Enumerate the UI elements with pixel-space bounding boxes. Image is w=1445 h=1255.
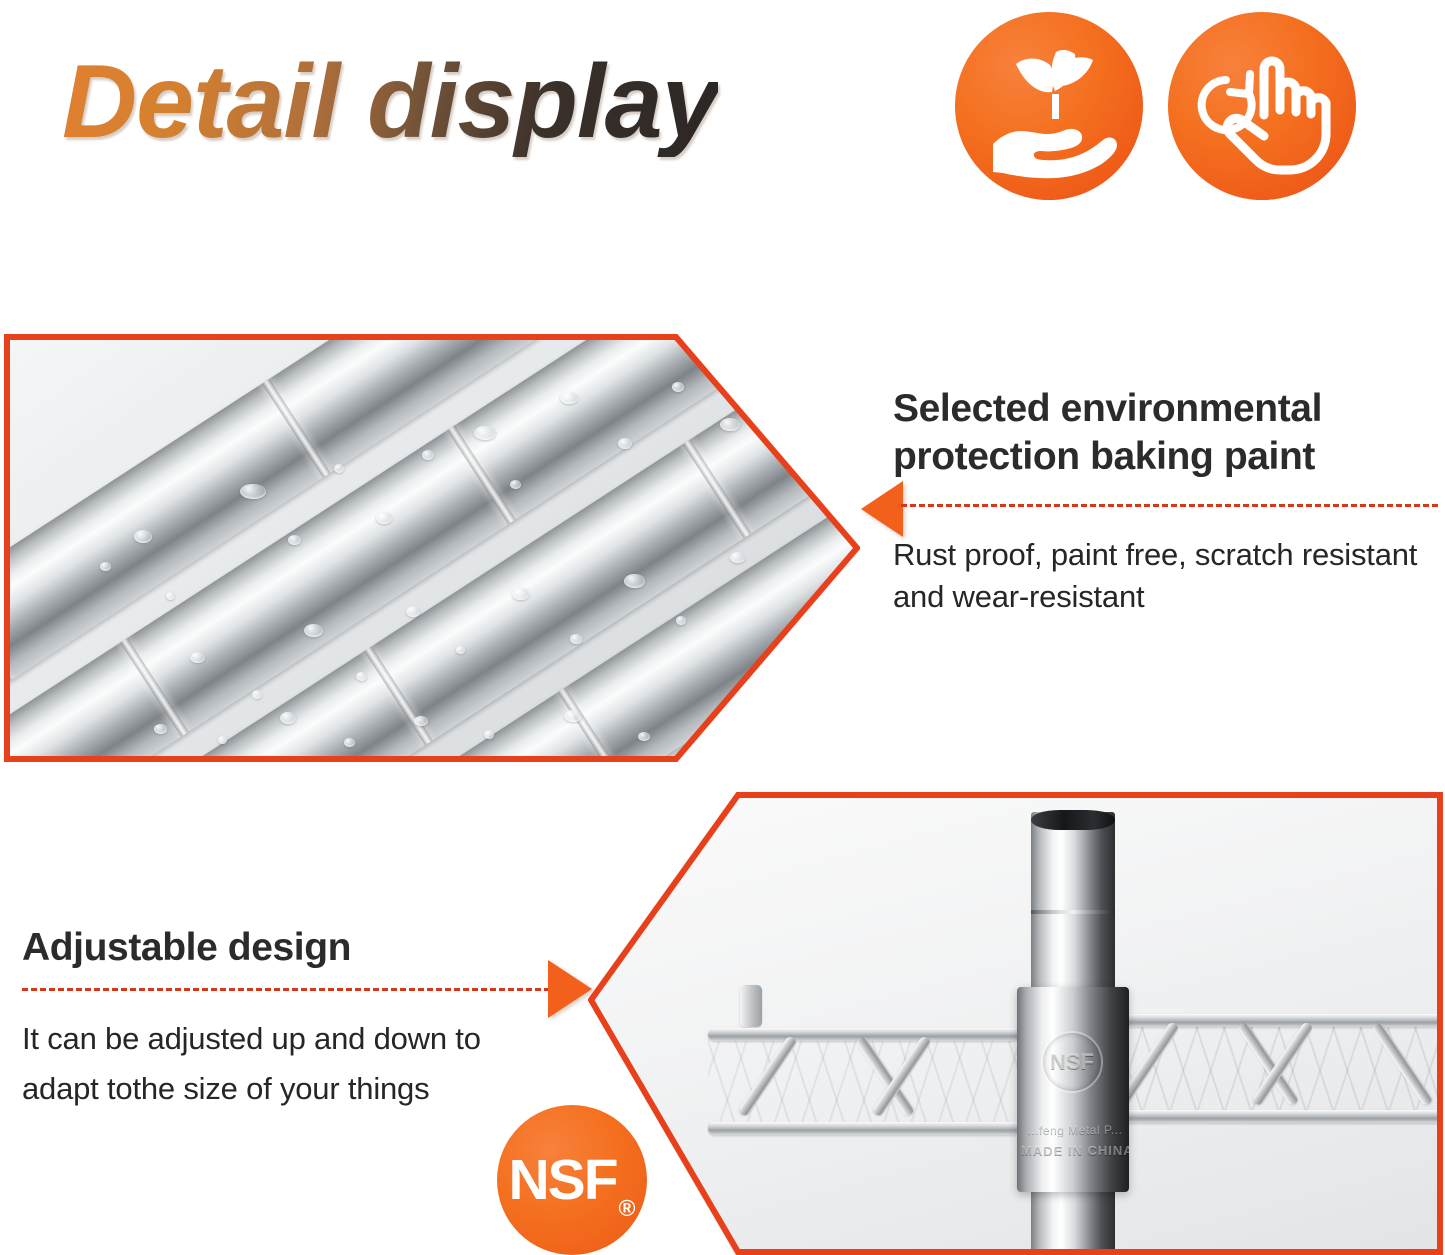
shelf-rail <box>1115 1014 1443 1027</box>
adjustable-design-headline: Adjustable design <box>22 925 530 972</box>
eco-friendly-badge <box>955 12 1143 200</box>
shelf-rail <box>1115 1110 1443 1123</box>
adjustable-badge <box>1168 12 1356 200</box>
chrome-poles-group <box>4 334 860 762</box>
header: Detail display <box>0 0 1445 215</box>
chrome-poles-photo <box>4 334 860 762</box>
baking-paint-photo-panel <box>4 334 860 762</box>
adjustable-design-subtext: It can be adjusted up and down to adapt … <box>22 1014 530 1114</box>
nsf-certification-badge: NSF ® <box>497 1105 647 1255</box>
adjustable-design-photo-panel: NSF ...feng Metal P... MADE IN CHINA <box>588 792 1443 1255</box>
hand-holding-plant-icon <box>955 12 1143 200</box>
shelf-clip <box>740 985 762 1027</box>
callout-divider-bottom <box>22 974 530 1008</box>
baking-paint-subtext: Rust proof, paint free, scratch resistan… <box>893 534 1438 618</box>
arrow-left-icon <box>861 481 903 537</box>
post-cap <box>1031 810 1115 830</box>
collar-brand-engraving: ...feng Metal P... <box>1021 1123 1129 1137</box>
dashed-connector <box>22 988 550 991</box>
collar-origin-engraving: MADE IN CHINA <box>1021 1143 1129 1158</box>
arrow-right-icon <box>548 960 592 1018</box>
baking-paint-callout: Selected environmental protection baking… <box>893 385 1438 618</box>
collar-nsf-engraving: NSF <box>1041 1031 1103 1093</box>
adjustable-collar: NSF ...feng Metal P... MADE IN CHINA <box>1017 987 1129 1192</box>
nsf-label: NSF <box>509 1152 617 1209</box>
dashed-connector <box>901 504 1438 507</box>
shelf-collar-photo: NSF ...feng Metal P... MADE IN CHINA <box>588 792 1443 1255</box>
shelf-rail <box>708 1122 1020 1135</box>
adjustable-design-callout: Adjustable design It can be adjusted up … <box>22 925 530 1114</box>
baking-paint-headline: Selected environmental protection baking… <box>893 385 1438 480</box>
hand-pointer-refresh-icon <box>1168 12 1356 200</box>
registered-trademark-icon: ® <box>619 1195 636 1222</box>
callout-divider-top <box>893 486 1438 526</box>
page-title: Detail display <box>62 48 718 157</box>
post-seam <box>1031 910 1115 914</box>
